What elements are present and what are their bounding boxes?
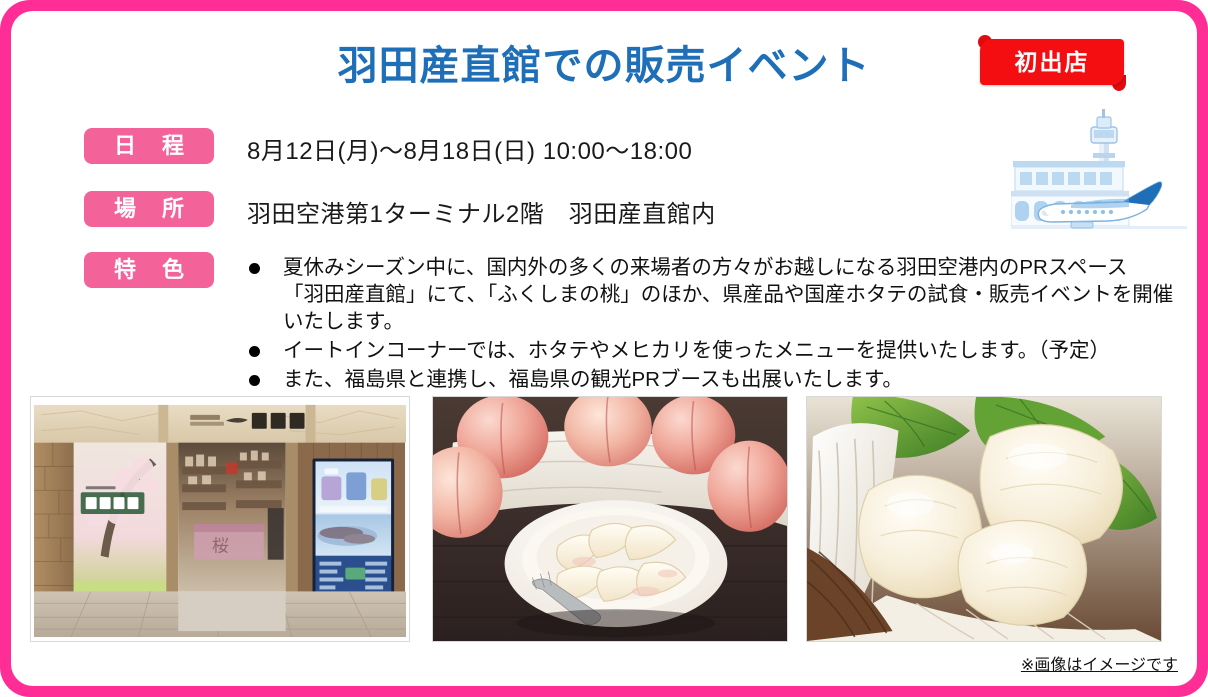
bullet-line: イートインコーナーでは、ホタテやメヒカリを使ったメニューを提供いたします。（予定… xyxy=(283,337,1179,364)
schedule-value: 8月12日(月)〜8月18日(日) 10:00〜18:00 xyxy=(247,131,692,166)
bullet-line: 「羽田産直館」にて、「ふくしまの桃」のほか、県産品や国産ホタテの試食・販売イベン… xyxy=(283,281,1179,308)
bullet-line: また、福島県と連携し、福島県の観光PRブースも出展いたします。 xyxy=(283,366,1179,393)
image-disclaimer-note: ※画像はイメージです xyxy=(1021,651,1178,675)
label-chip-place: 場 所 xyxy=(84,191,214,227)
poster-body: 羽田産直館での販売イベント 初出店 xyxy=(11,11,1197,686)
store-front-photo: 桜 xyxy=(30,396,410,642)
badge-label: 初出店 xyxy=(980,39,1124,85)
feature-bullet-list: 夏休みシーズン中に、国内外の多くの来場者の方々がお越しになる羽田空港内のPRスペ… xyxy=(239,254,1179,395)
label-chip-schedule: 日 程 xyxy=(84,128,214,164)
status-badge: 初出店 xyxy=(974,33,1130,91)
poster-frame: 羽田産直館での販売イベント 初出店 xyxy=(0,0,1208,697)
bullet-line: 夏休みシーズン中に、国内外の多くの来場者の方々がお越しになる羽田空港内のPRスペ… xyxy=(283,254,1179,281)
label-chip-feature: 特 色 xyxy=(84,252,214,288)
peach-photo xyxy=(432,396,788,642)
svg-text:桜: 桜 xyxy=(212,536,229,556)
place-value: 羽田空港第1ターミナル2階 羽田産直館内 xyxy=(247,194,716,229)
bullet-line: いたします。 xyxy=(283,308,1179,335)
list-item: イートインコーナーでは、ホタテやメヒカリを使ったメニューを提供いたします。（予定… xyxy=(239,337,1179,364)
list-item: 夏休みシーズン中に、国内外の多くの来場者の方々がお越しになる羽田空港内のPRスペ… xyxy=(239,254,1179,335)
airport-terminal-airplane-icon xyxy=(1011,109,1187,239)
list-item: また、福島県と連携し、福島県の観光PRブースも出展いたします。 xyxy=(239,366,1179,393)
scallop-photo xyxy=(806,396,1162,642)
